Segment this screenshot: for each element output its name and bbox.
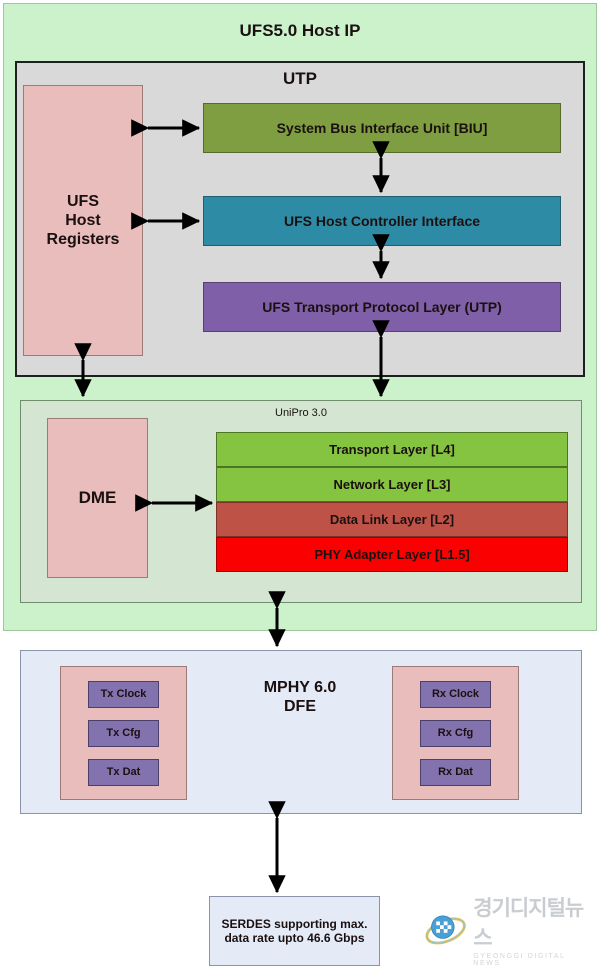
data-link-layer-l2-label: Data Link Layer [L2] — [216, 502, 568, 537]
rx-dat-label: Rx Dat — [420, 759, 491, 786]
network-layer-l3-label: Network Layer [L3] — [216, 467, 568, 502]
ufs-host-ip-title: UFS5.0 Host IP — [3, 14, 597, 48]
watermark-subtitle: GYEONGGI DIGITAL NEWS — [473, 953, 594, 967]
system-bus-interface-unit-label: System Bus Interface Unit [BIU] — [203, 103, 561, 153]
tx-clock-label: Tx Clock — [88, 681, 159, 708]
ufs-host-registers-label: UFS Host Registers — [23, 85, 143, 356]
tx-cfg-label: Tx Cfg — [88, 720, 159, 747]
serdes-label: SERDES supporting max. data rate upto 46… — [209, 896, 380, 966]
ufs-host-controller-interface-label: UFS Host Controller Interface — [203, 196, 561, 246]
dme-label: DME — [47, 418, 148, 578]
rx-clock-label: Rx Clock — [420, 681, 491, 708]
watermark-korean-text: 경기디지털뉴스 — [473, 892, 594, 952]
transport-layer-l4-label: Transport Layer [L4] — [216, 432, 568, 467]
diagram-canvas: UFS5.0 Host IP UTP UFS Host Registers Sy… — [0, 0, 600, 971]
mphy-title: MPHY 6.0 DFE — [200, 668, 400, 726]
tx-dat-label: Tx Dat — [88, 759, 159, 786]
watermark: 경기디지털뉴스 GYEONGGI DIGITAL NEWS — [424, 903, 594, 955]
ufs-transport-protocol-layer-label: UFS Transport Protocol Layer (UTP) — [203, 282, 561, 332]
globe-icon — [424, 906, 467, 952]
phy-adapter-layer-l15-label: PHY Adapter Layer [L1.5] — [216, 537, 568, 572]
rx-cfg-label: Rx Cfg — [420, 720, 491, 747]
